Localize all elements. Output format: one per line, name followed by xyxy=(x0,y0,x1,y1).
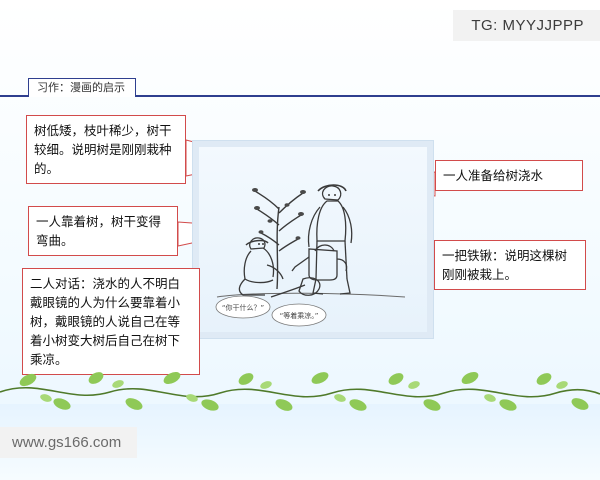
vine-decoration xyxy=(0,360,600,420)
callout-text: 一人准备给树浇水 xyxy=(443,168,543,183)
callout-text: 树低矮，枝叶稀少，树干较细。说明树是刚刚栽种的。 xyxy=(34,123,172,176)
speech-right: “等着乘凉。” xyxy=(280,311,319,320)
header-label: 习作：漫画的启示 xyxy=(37,81,125,94)
cartoon-illustration: “你干什么？” “等着乘凉。” xyxy=(199,147,427,332)
header-tab: 习作：漫画的启示 xyxy=(28,78,136,97)
callout-watering-person: 一人准备给树浇水 xyxy=(435,160,583,191)
callout-text: 二人对话：浇水的人不明白戴眼镜的人为什么要靠着小树，戴眼镜的人说自己在等着小树变… xyxy=(30,276,180,367)
site-watermark: www.gs166.com xyxy=(0,427,137,458)
callout-text: 一把铁锹：说明这棵树刚刚被栽上。 xyxy=(442,248,567,282)
cartoon-picture-frame: “你干什么？” “等着乘凉。” xyxy=(193,141,433,338)
tg-watermark: TG: MYYJJPPP xyxy=(453,10,600,41)
callout-dialogue: 二人对话：浇水的人不明白戴眼镜的人为什么要靠着小树，戴眼镜的人说自己在等着小树变… xyxy=(22,268,200,375)
callout-text: 一人靠着树，树干变得弯曲。 xyxy=(36,214,161,248)
callout-leaning-person: 一人靠着树，树干变得弯曲。 xyxy=(28,206,178,256)
speech-left: “你干什么？” xyxy=(222,303,264,312)
cartoon-picture: “你干什么？” “等着乘凉。” xyxy=(199,147,427,332)
slide-canvas: 习作：漫画的启示 xyxy=(0,0,600,480)
callout-shovel: 一把铁锹：说明这棵树刚刚被栽上。 xyxy=(434,240,586,290)
callout-tree-description: 树低矮，枝叶稀少，树干较细。说明树是刚刚栽种的。 xyxy=(26,115,186,184)
